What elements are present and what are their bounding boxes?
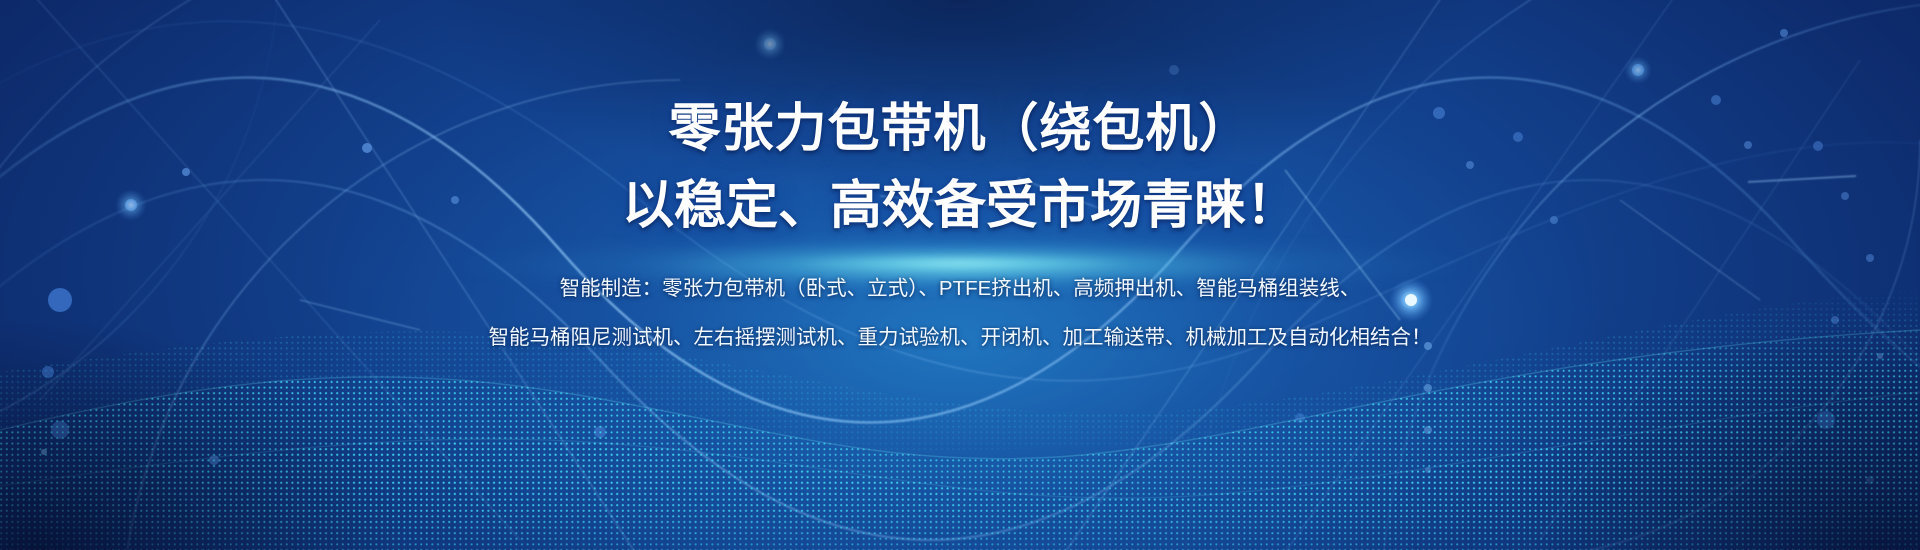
particle-wave-layer [0, 0, 1920, 550]
hero-banner: 零张力包带机（绕包机） 以稳定、高效备受市场青睐！ 智能制造：零张力包带机（卧式… [0, 0, 1920, 550]
particle-wave-svg [0, 0, 1920, 550]
